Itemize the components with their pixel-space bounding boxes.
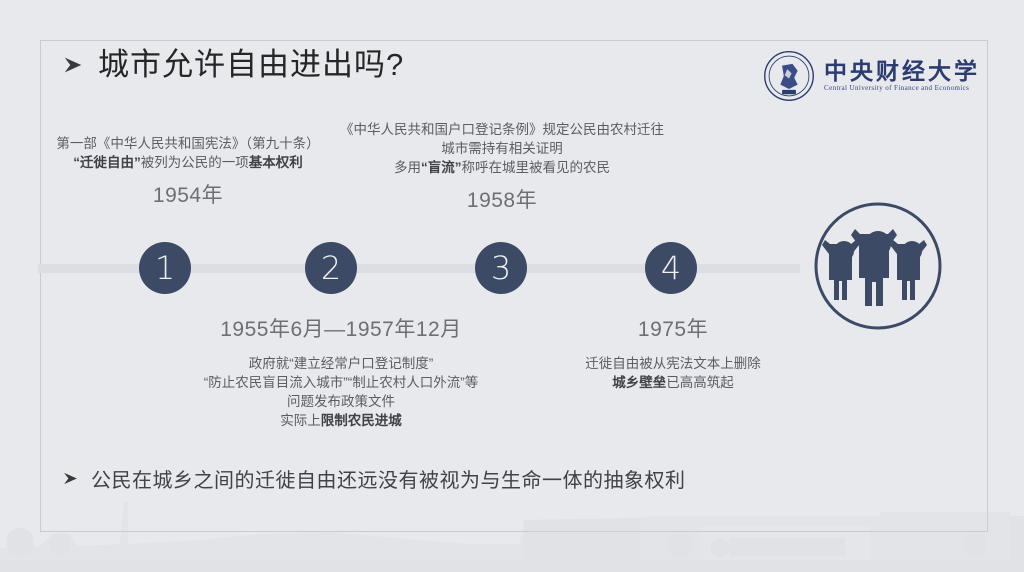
block-line: 问题发布政策文件 [178,392,504,411]
emphasis-text: “盲流” [421,160,462,175]
plain-text: “防止农民盲目流入城市”“制止农村人口外流”等 [204,375,478,390]
plain-text: 多用 [394,160,421,175]
block-line: “迁徙自由”被列为公民的一项基本权利 [28,153,348,172]
block-year: 1955年6月—1957年12月 [178,315,504,345]
footer-text: 公民在城乡之间的迁徙自由还远没有被视为与生命一体的抽象权利 [91,464,686,493]
emphasis-text: 城乡壁垒 [612,375,666,390]
block-year: 1954年 [28,181,348,211]
block-line: 城市需持有相关证明 [334,139,670,158]
university-name-en: Central University of Finance and Econom… [824,85,980,92]
plain-text: 《中华人民共和国户口登记条例》规定公民由农村迁往 [340,122,664,137]
emphasis-text: “迁徙自由” [73,155,141,170]
timeline-node-4[interactable]: 4 [645,242,697,294]
timeline-node-1[interactable]: 1 [139,242,191,294]
plain-text: 被列为公民的一项 [141,155,249,170]
block-line: 政府就“建立经常户口登记制度” [178,354,504,373]
block-lines: 第一部《中华人民共和国宪法》（第九十条）“迁徙自由”被列为公民的一项基本权利 [28,134,348,172]
block-lines: 《中华人民共和国户口登记条例》规定公民由农村迁往城市需持有相关证明多用“盲流”称… [334,120,670,177]
plain-text: 城市需持有相关证明 [441,141,563,156]
university-seal-icon [763,50,815,102]
timeline-node-3[interactable]: 3 [475,242,527,294]
block-year: 1958年 [334,186,670,216]
page-title: 城市允许自由进出吗? [62,48,404,82]
block-line: 城乡壁垒已高高筑起 [548,373,798,392]
plain-text: 实际上 [280,413,321,428]
plain-text: 政府就“建立经常户口登记制度” [249,356,434,371]
block-line: 《中华人民共和国户口登记条例》规定公民由农村迁往 [334,120,670,139]
block-lines: 迁徙自由被从宪法文本上删除城乡壁垒已高高筑起 [548,354,798,392]
university-name-group: 中央财经大学 Central University of Finance and… [824,60,980,92]
timeline-block-2: 《中华人民共和国户口登记条例》规定公民由农村迁往城市需持有相关证明多用“盲流”称… [334,120,670,216]
block-line: 实际上限制农民进城 [178,411,504,430]
timeline-block-4: 1975年迁徙自由被从宪法文本上删除城乡壁垒已高高筑起 [548,315,798,392]
emphasis-text: 基本权利 [249,155,303,170]
block-lines: 政府就“建立经常户口登记制度”“防止农民盲目流入城市”“制止农村人口外流”等问题… [178,354,504,431]
block-line: 多用“盲流”称呼在城里被看见的农民 [334,158,670,177]
timeline-block-1: 第一部《中华人民共和国宪法》（第九十条）“迁徙自由”被列为公民的一项基本权利19… [28,134,348,211]
page-title-text: 城市允许自由进出吗? [98,48,404,82]
footer-bullet: 公民在城乡之间的迁徙自由还远没有被视为与生命一体的抽象权利 [62,464,686,493]
plain-text: 第一部《中华人民共和国宪法》（第九十条） [56,136,319,151]
arrow-bullet-icon [62,54,84,76]
block-line: “防止农民盲目流入城市”“制止农村人口外流”等 [178,373,504,392]
university-logo: 中央财经大学 Central University of Finance and… [763,50,980,102]
timeline-block-3: 1955年6月—1957年12月政府就“建立经常户口登记制度”“防止农民盲目流入… [178,315,504,430]
plain-text: 问题发布政策文件 [287,394,395,409]
plain-text: 已高高筑起 [666,375,734,390]
plain-text: 迁徙自由被从宪法文本上删除 [585,356,761,371]
block-line: 第一部《中华人民共和国宪法》（第九十条） [28,134,348,153]
arrow-bullet-icon [62,470,79,487]
block-line: 迁徙自由被从宪法文本上删除 [548,354,798,373]
timeline-node-2[interactable]: 2 [305,242,357,294]
university-name-cn: 中央财经大学 [824,60,980,83]
block-year: 1975年 [548,315,798,345]
three-people-raised-arms-icon [808,196,948,336]
plain-text: 称呼在城里被看见的农民 [462,160,611,175]
emphasis-text: 限制农民进城 [321,413,402,428]
